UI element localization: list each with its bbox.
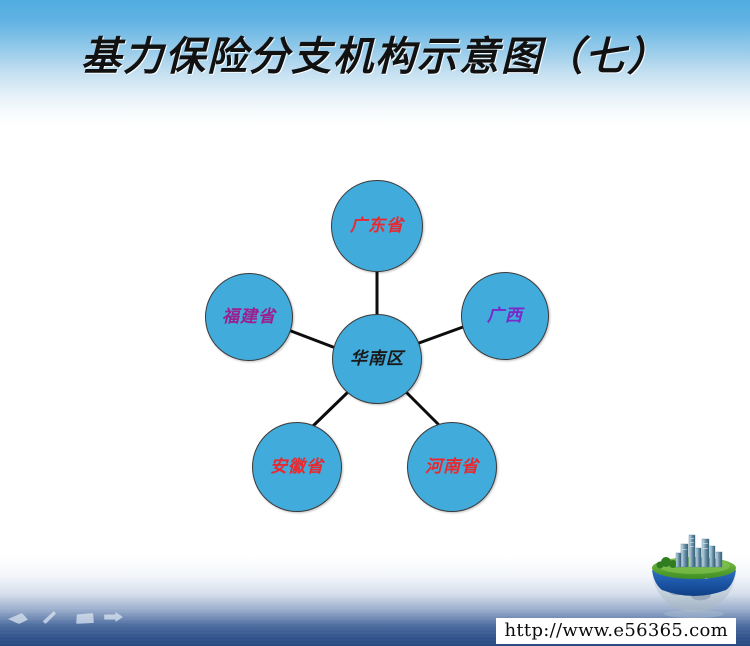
node-fujian[interactable]: 福建省 xyxy=(205,273,293,361)
node-guangxi[interactable]: 广西 xyxy=(461,272,549,360)
source-watermark: http://www.e56365.com xyxy=(496,618,736,644)
node-henan[interactable]: 河南省 xyxy=(407,422,497,512)
node-center-south-china-region[interactable]: 华南区 xyxy=(332,314,422,404)
node-label-guangdong: 广东省 xyxy=(350,218,404,235)
node-label-fujian: 福建省 xyxy=(222,309,276,326)
edge-center-henan xyxy=(407,393,438,424)
edge-center-anhui xyxy=(313,393,347,426)
node-label-anhui: 安徽省 xyxy=(270,459,324,476)
org-diagram: 广东省 广西 河南省 安徽省 福建省 华南区 xyxy=(0,0,750,646)
node-guangdong[interactable]: 广东省 xyxy=(331,180,423,272)
node-label-center: 华南区 xyxy=(350,351,404,368)
slide-canvas: 基力保险分支机构示意图（七） 广东省 广西 河南省 安徽省 福建省 xyxy=(0,0,750,646)
node-anhui[interactable]: 安徽省 xyxy=(252,422,342,512)
edge-center-fujian xyxy=(291,331,333,347)
node-label-henan: 河南省 xyxy=(425,459,479,476)
edge-center-guangxi xyxy=(419,327,463,343)
earth-city-globe-icon xyxy=(646,526,742,622)
node-label-guangxi: 广西 xyxy=(487,308,523,325)
